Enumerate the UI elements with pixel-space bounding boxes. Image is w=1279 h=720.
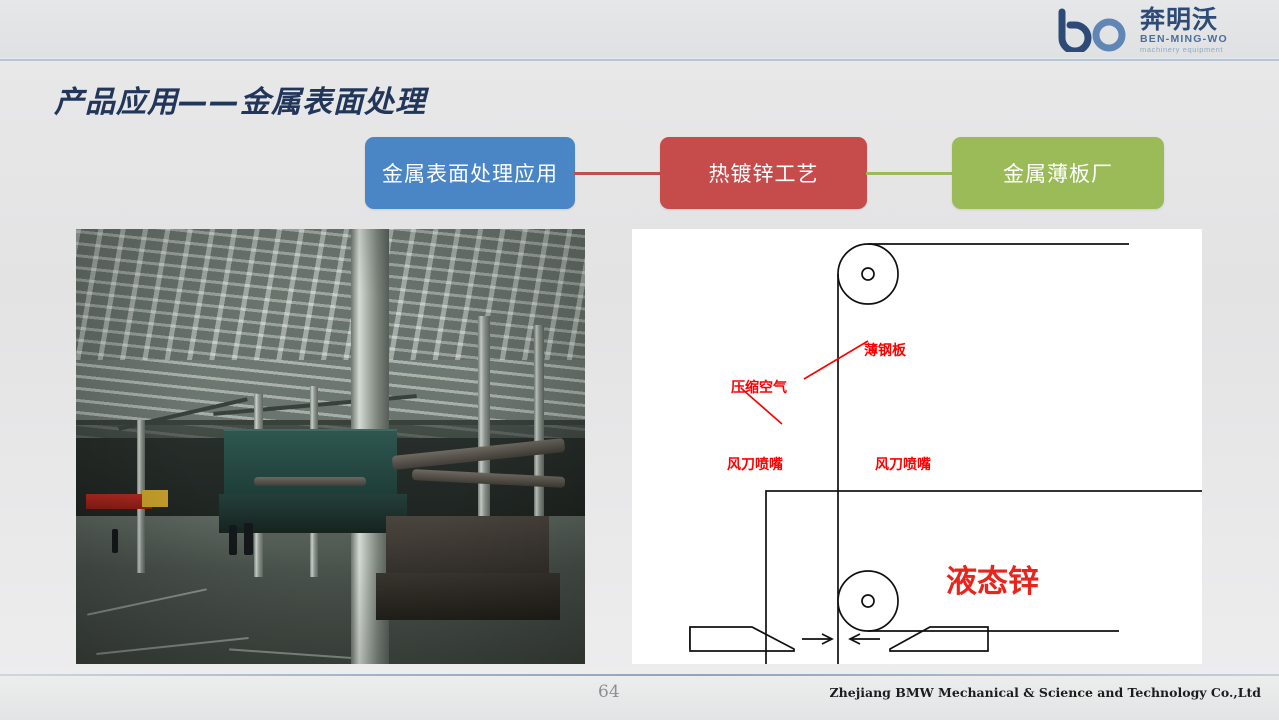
header-divider [0,58,1279,61]
logo-text: 奔明沃 BEN-MING-WO machinery equipment [1140,7,1228,54]
label-steel-sheet: 薄钢板 [864,340,906,360]
flow-diagram: 金属表面处理应用 热镀锌工艺 金属薄板厂 [0,137,1279,213]
logo-tagline: machinery equipment [1140,46,1228,54]
company-name: Zhejiang BMW Mechanical & Science and Te… [830,685,1261,700]
top-roller-outer [838,244,898,304]
flow-connector-2 [866,172,954,175]
page-number: 64 [598,682,620,702]
bmw-bo-logo-icon [1056,8,1134,52]
factory-photo-content [76,229,585,664]
bottom-roller-outer [838,571,898,631]
flow-connector-1 [574,172,662,175]
label-air-knife-right: 风刀喷嘴 [875,454,931,474]
top-roller-shaft [862,268,874,280]
slide: 奔明沃 BEN-MING-WO machinery equipment 产品应用… [0,0,1279,720]
steel-sheet-leader [804,341,868,379]
galvanizing-diagram: 薄钢板 压缩空气 风刀喷嘴 风刀喷嘴 液态锌 [632,229,1202,664]
logo-chinese-name: 奔明沃 [1140,7,1228,32]
galvanizing-diagram-canvas [632,229,1202,664]
left-air-knife-nozzle [690,627,794,651]
label-compressed-air: 压缩空气 [731,377,787,397]
flow-box-metal-surface-treatment[interactable]: 金属表面处理应用 [365,137,575,209]
flow-box-hot-dip-galvanizing[interactable]: 热镀锌工艺 [660,137,867,209]
label-air-knife-left: 风刀喷嘴 [727,454,783,474]
logo-english-name: BEN-MING-WO [1140,34,1228,45]
label-liquid-zinc: 液态锌 [946,556,1039,601]
company-logo: 奔明沃 BEN-MING-WO machinery equipment [1056,4,1271,56]
flow-box-sheet-metal-plant[interactable]: 金属薄板厂 [952,137,1164,209]
page-title: 产品应用——金属表面处理 [54,77,426,121]
diagram-svg [632,229,1202,664]
factory-photo [76,229,585,664]
photo-vignette [76,229,585,664]
